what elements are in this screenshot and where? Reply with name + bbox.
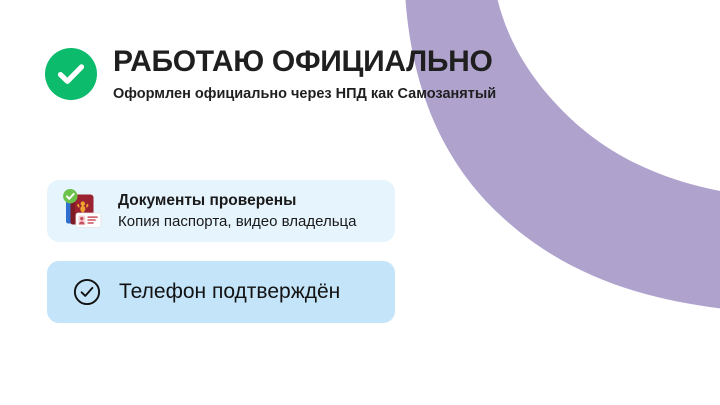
check-circle-outline-icon bbox=[73, 278, 101, 306]
header: РАБОТАЮ ОФИЦИАЛЬНО Оформлен официально ч… bbox=[45, 45, 496, 103]
banner-subtitle: Оформлен официально через НПД как Самоза… bbox=[113, 85, 496, 103]
banner-title: РАБОТАЮ ОФИЦИАЛЬНО bbox=[113, 45, 493, 79]
card-documents: Документы проверены Копия паспорта, виде… bbox=[47, 180, 395, 242]
banner-canvas: РАБОТАЮ ОФИЦИАЛЬНО Оформлен официально ч… bbox=[0, 0, 720, 405]
avito-watermark bbox=[614, 361, 706, 387]
documents-subtitle: Копия паспорта, видео владельца bbox=[118, 211, 356, 232]
header-texts: РАБОТАЮ ОФИЦИАЛЬНО Оформлен официально ч… bbox=[113, 45, 496, 103]
phone-label: Телефон подтверждён bbox=[119, 279, 340, 305]
documents-texts: Документы проверены Копия паспорта, виде… bbox=[118, 191, 356, 232]
card-phone: Телефон подтверждён bbox=[47, 261, 395, 323]
green-check-circle-icon bbox=[45, 48, 97, 100]
documents-title: Документы проверены bbox=[118, 191, 356, 211]
passport-documents-icon bbox=[61, 188, 105, 234]
